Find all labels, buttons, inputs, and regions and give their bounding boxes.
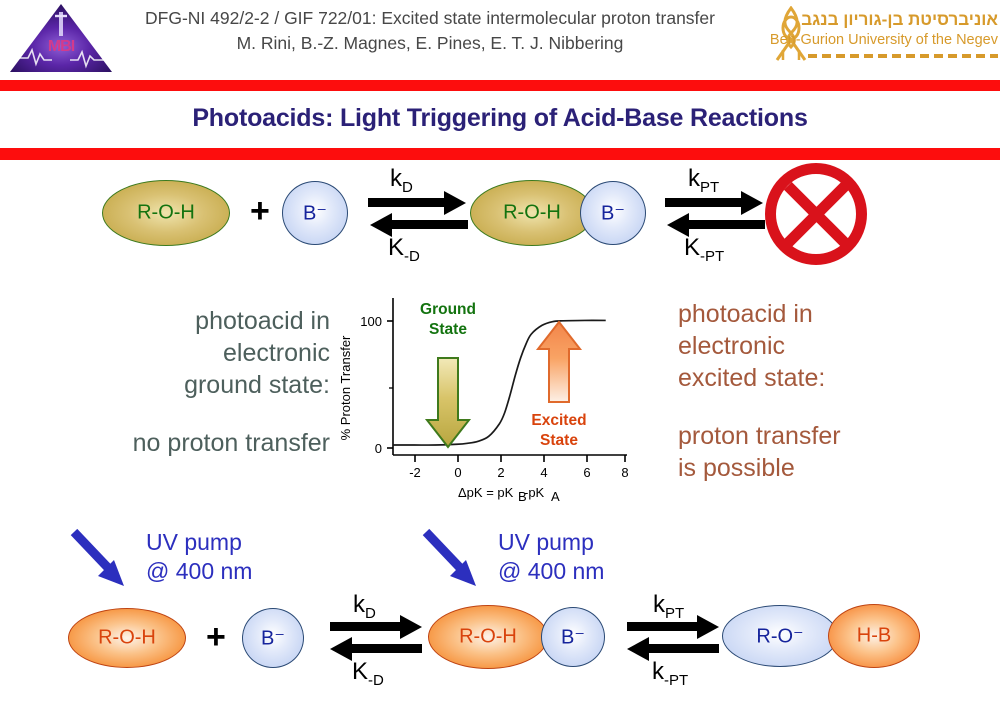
equilibrium-arrow-kPT-ground (665, 198, 765, 238)
x-tick-4: 4 (540, 465, 547, 480)
bgu-logo: אוניברסיטת בן-גוריון בנגב Ben-Gurion Uni… (770, 4, 1000, 72)
y-tick-100: 100 (360, 314, 382, 329)
species-acid-ground: R-O-H (102, 180, 230, 246)
uv-pump-right-line2: @ 400 nm (498, 557, 604, 586)
bgu-logo-hebrew: אוניברסיטת בן-גוריון בנגב (801, 10, 998, 30)
species-complex-base-excited: B⁻ (541, 607, 605, 667)
bgu-logo-dashes (808, 54, 998, 58)
left-text-line-4: no proton transfer (40, 427, 330, 459)
right-text-line-4: proton transfer (678, 420, 978, 452)
ground-state-description: photoacid in electronic ground state: no… (110, 305, 330, 459)
divider-rule-top (0, 80, 1000, 91)
uv-pump-arrow-left-icon (68, 528, 132, 590)
excited-state-annotation: Excited State (531, 322, 586, 449)
page-title: Photoacids: Light Triggering of Acid-Bas… (0, 104, 1000, 133)
rate-label-kD-ground: kD (390, 165, 413, 196)
species-complex-base-ground: B⁻ (580, 181, 646, 245)
x-axis-label: ΔpK = pK B -pK A (458, 485, 560, 504)
species-base-excited: B⁻ (242, 608, 304, 668)
rate-label-kminusPT-excited: k-PT (652, 658, 688, 689)
x-tick-2: 2 (497, 465, 504, 480)
species-base-ground: B⁻ (282, 181, 348, 245)
x-axis-label-main: ΔpK = pK (458, 485, 514, 500)
chart-axes (387, 298, 627, 462)
equilibrium-arrow-kPT-excited (627, 622, 727, 662)
equilibrium-arrow-kD-excited (330, 622, 430, 662)
uv-pump-label-left: UV pump @ 400 nm (146, 528, 252, 586)
y-tick-0: 0 (375, 441, 382, 456)
rate-label-KminusD-excited: K-D (352, 658, 384, 689)
plus-sign-excited: + (206, 618, 226, 657)
species-complex-acid-ground: R-O-H (470, 180, 594, 246)
uv-pump-right-line1: UV pump (498, 528, 604, 557)
slide-header: MBI DFG-NI 492/2-2 / GIF 722/01: Excited… (0, 0, 1000, 78)
species-acid-excited: R-O-H (68, 608, 186, 668)
header-project-text: DFG-NI 492/2-2 / GIF 722/01: Excited sta… (90, 6, 770, 56)
rate-label-KminusPT-ground: K-PT (684, 234, 724, 265)
proton-transfer-chart: 100 0 -2 0 2 4 6 8 % Proton Transfer ΔpK… (330, 292, 630, 507)
right-text-line-3: excited state: (678, 362, 978, 394)
x-tick-8: 8 (621, 465, 628, 480)
rate-label-KminusD-ground: K-D (388, 234, 420, 265)
left-text-line-3: ground state: (110, 369, 330, 401)
right-text-line-1: photoacid in (678, 298, 978, 330)
x-tick-0: 0 (454, 465, 461, 480)
uv-pump-left-line1: UV pump (146, 528, 252, 557)
left-text-line-2: electronic (110, 337, 330, 369)
left-text-line-1: photoacid in (110, 305, 330, 337)
species-complex-acid-excited: R-O-H (428, 605, 548, 669)
ground-state-annotation: Ground State (420, 301, 476, 447)
rate-label-kPT-ground: kPT (688, 165, 719, 196)
no-proton-transfer-icon (765, 163, 867, 265)
divider-rule-below-title (0, 148, 1000, 160)
uv-pump-arrow-right-icon (420, 528, 484, 590)
excited-state-description: photoacid in electronic excited state: p… (678, 298, 978, 484)
right-text-line-2: electronic (678, 330, 978, 362)
x-tick-minus2: -2 (409, 465, 421, 480)
rate-label-kPT-excited: kPT (653, 591, 684, 622)
header-line-2: M. Rini, B.-Z. Magnes, E. Pines, E. T. J… (90, 31, 770, 56)
uv-pump-label-right: UV pump @ 400 nm (498, 528, 604, 586)
header-line-1: DFG-NI 492/2-2 / GIF 722/01: Excited sta… (90, 6, 770, 31)
right-text-line-5: is possible (678, 452, 978, 484)
excited-state-label-line2: State (540, 432, 578, 449)
species-product-acid: H-B (828, 604, 920, 668)
equilibrium-arrow-kD-ground (368, 198, 468, 238)
x-axis-label-mid: -pK (524, 485, 545, 500)
plus-sign-ground: + (250, 192, 270, 231)
rate-label-kD-excited: kD (353, 591, 376, 622)
ground-state-label-line2: State (429, 321, 467, 338)
svg-text:MBI: MBI (48, 38, 75, 55)
ground-state-down-arrow (427, 358, 469, 447)
excited-state-up-arrow (538, 322, 580, 402)
ground-state-label-line1: Ground (420, 301, 476, 318)
bgu-logo-english: Ben-Gurion University of the Negev (770, 32, 998, 48)
x-axis-label-sub-A: A (551, 489, 560, 504)
excited-state-label-line1: Excited (531, 412, 586, 429)
uv-pump-left-line2: @ 400 nm (146, 557, 252, 586)
species-product-anion: R-O⁻ (722, 605, 838, 667)
y-axis-label: % Proton Transfer (338, 335, 353, 440)
x-tick-6: 6 (583, 465, 590, 480)
